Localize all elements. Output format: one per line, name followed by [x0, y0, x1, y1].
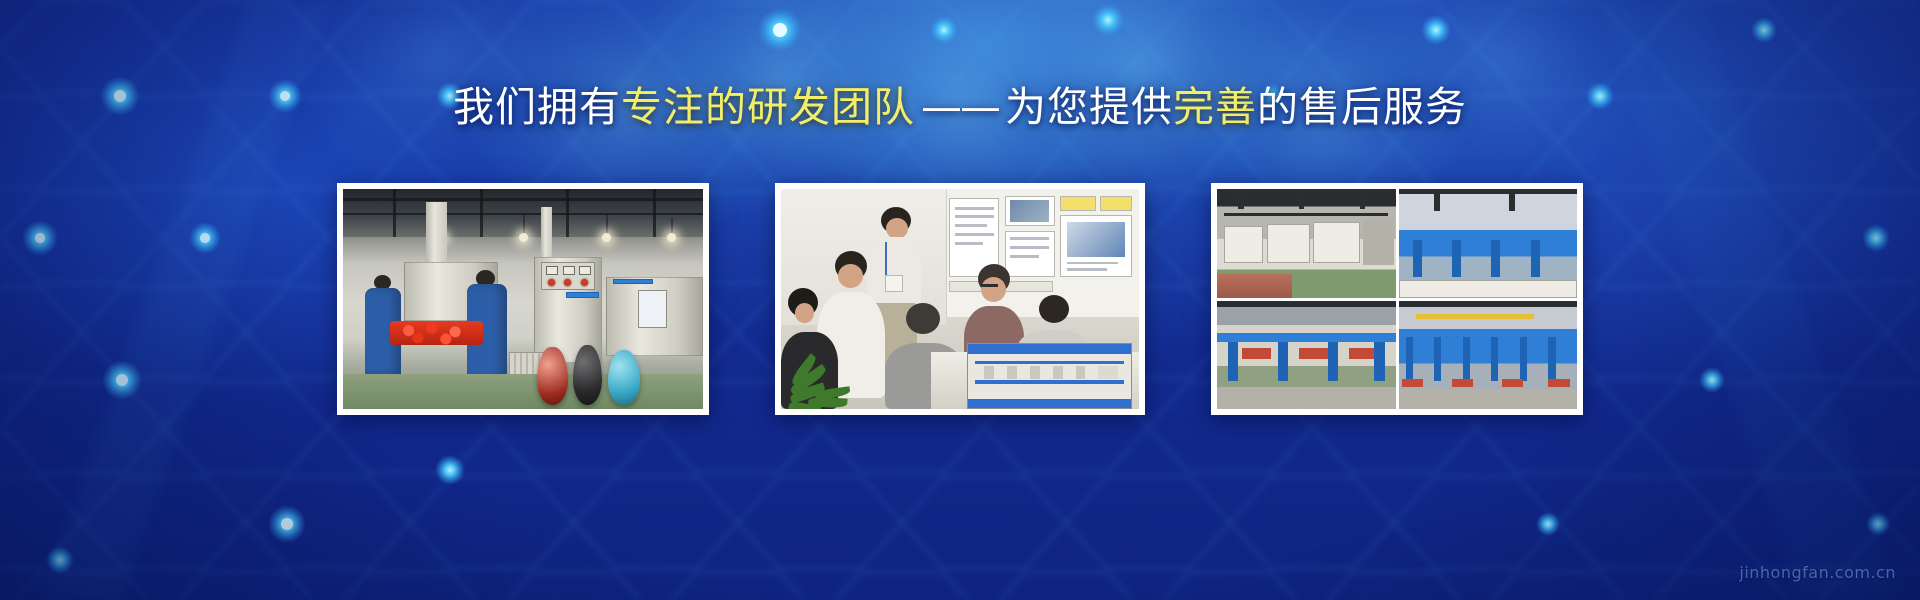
headline-segment-3: 的售后服务	[1257, 83, 1467, 131]
photo-frame-equipment-composite[interactable]	[1211, 183, 1583, 415]
headline-highlight-2: 完善	[1173, 83, 1257, 131]
production-line-photo	[343, 189, 703, 409]
site-watermark: jinhongfan.com.cn	[1739, 563, 1896, 582]
page-title: 我们拥有专注的研发团队——为您提供完善的售后服务	[0, 84, 1920, 131]
photo-frame-team-meeting[interactable]	[775, 183, 1145, 415]
photo-gallery	[0, 183, 1920, 415]
equipment-composite-photo	[1217, 189, 1577, 409]
photo-frame-production-line[interactable]	[337, 183, 709, 415]
headline-dash: ——	[915, 83, 1005, 131]
composite-quadrant-3	[1217, 301, 1396, 410]
composite-quadrant-1	[1217, 189, 1396, 298]
composite-quadrant-2	[1399, 189, 1578, 298]
headline-segment-1: 我们拥有	[453, 83, 621, 131]
composite-quadrant-4	[1399, 301, 1578, 410]
headline-segment-2: 为您提供	[1005, 83, 1173, 131]
team-meeting-photo	[781, 189, 1139, 409]
headline-highlight-1: 专注的研发团队	[621, 83, 915, 131]
promo-banner: 我们拥有专注的研发团队——为您提供完善的售后服务	[0, 0, 1920, 600]
